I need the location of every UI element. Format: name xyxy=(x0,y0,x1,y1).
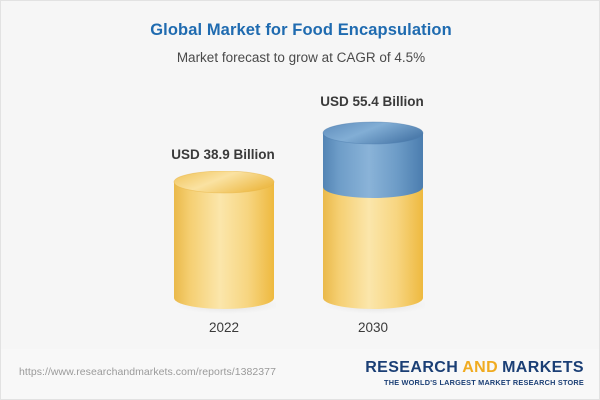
cylinder-bar-2022 xyxy=(172,171,276,315)
bar-value-label-2030: USD 55.4 Billion xyxy=(252,94,492,109)
logo-tagline: THE WORLD'S LARGEST MARKET RESEARCH STOR… xyxy=(365,378,584,387)
chart-card: Global Market for Food Encapsulation Mar… xyxy=(0,0,600,400)
logo-word-research: RESEARCH xyxy=(365,359,458,376)
source-url[interactable]: https://www.researchandmarkets.com/repor… xyxy=(19,366,276,378)
logo-wordmark: RESEARCHANDMARKETS xyxy=(365,359,584,376)
logo-word-and: AND xyxy=(462,359,498,376)
category-label-2030: 2030 xyxy=(253,320,493,335)
cylinder-bar-2030 xyxy=(321,118,425,315)
bar-value-label-2022: USD 38.9 Billion xyxy=(103,147,343,162)
research-and-markets-logo: RESEARCHANDMARKETS THE WORLD'S LARGEST M… xyxy=(365,359,584,387)
chart-footer: https://www.researchandmarkets.com/repor… xyxy=(1,349,600,400)
chart-plot-area: USD 38.9 Billion xyxy=(1,1,600,349)
logo-word-markets: MARKETS xyxy=(502,359,584,376)
